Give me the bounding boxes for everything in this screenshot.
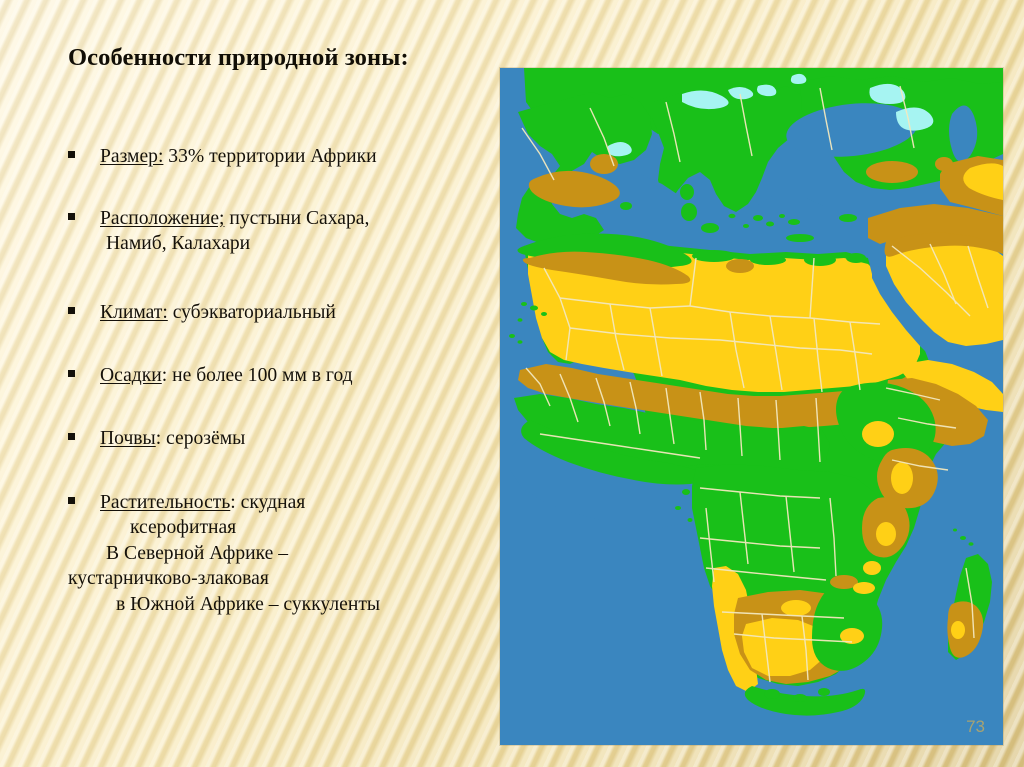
bullet-label: Растительность bbox=[100, 492, 230, 513]
page-title: Особенности природной зоны: bbox=[68, 44, 468, 72]
anatolia-desert-patch bbox=[866, 161, 918, 183]
list-item: Почвы: серозёмы bbox=[68, 426, 468, 451]
map-svg bbox=[500, 68, 1003, 745]
square-bullet-icon bbox=[68, 213, 75, 220]
list-item: Расположение; пустыни Сахара, Намиб, Кал… bbox=[68, 206, 468, 257]
bullet-label: Осадки bbox=[100, 365, 162, 386]
bullet-value: : не более 100 мм в год bbox=[162, 365, 353, 386]
bullet-continuation: ксерофитная bbox=[68, 515, 468, 540]
text-column: Особенности природной зоны: Размер: 33% … bbox=[0, 0, 480, 767]
list-item: Растительность: скудная ксерофитная В Се… bbox=[68, 490, 468, 617]
africa-natural-zones-map: 73 bbox=[500, 68, 1003, 745]
levant-small-patch bbox=[935, 157, 953, 171]
bullet-value: пустыни Сахара, bbox=[225, 208, 370, 229]
bullet-label: Почвы bbox=[100, 428, 156, 449]
cyrenaica-patch bbox=[726, 259, 754, 273]
bullet-continuation: Намиб, Калахари bbox=[68, 231, 468, 256]
coastal-patch-1 bbox=[863, 561, 881, 575]
bullet-label: Расположение; bbox=[100, 208, 225, 229]
list-item: Осадки: не более 100 мм в год bbox=[68, 363, 468, 388]
madagascar-desert-patch bbox=[951, 621, 965, 639]
bullet-text: Почвы: серозёмы bbox=[68, 426, 468, 451]
page-number: 73 bbox=[966, 717, 985, 737]
bullet-continuation: в Южной Африке – суккуленты bbox=[68, 592, 468, 617]
square-bullet-icon bbox=[68, 151, 75, 158]
square-bullet-icon bbox=[68, 307, 75, 314]
bullet-text: Климат: субэкваториальный bbox=[68, 300, 468, 325]
list-item: Размер: 33% территории Африки bbox=[68, 144, 468, 169]
bullet-continuation: кустарничково-злаковая bbox=[68, 566, 468, 591]
mozambique-patch bbox=[853, 582, 875, 594]
bullet-text: Размер: 33% территории Африки bbox=[68, 144, 468, 169]
bullet-label: Климат: bbox=[100, 302, 168, 323]
kalahari-patch-a bbox=[781, 600, 811, 616]
bullet-text: Расположение; пустыни Сахара, bbox=[68, 206, 468, 231]
ethiopia-highland-patch bbox=[862, 421, 894, 447]
tanzania-desert-patch bbox=[876, 522, 896, 546]
slide-canvas: Особенности природной зоны: Размер: 33% … bbox=[0, 0, 1024, 767]
bullet-value: субэкваториальный bbox=[168, 302, 336, 323]
bullet-value: 33% территории Африки bbox=[163, 146, 376, 167]
square-bullet-icon bbox=[68, 370, 75, 377]
square-bullet-icon bbox=[68, 497, 75, 504]
kenya-desert-patch bbox=[891, 462, 913, 494]
bullet-text: Осадки: не более 100 мм в год bbox=[68, 363, 468, 388]
bullet-value: : серозёмы bbox=[156, 428, 246, 449]
bullet-label: Размер: bbox=[100, 146, 163, 167]
list-item: Климат: субэкваториальный bbox=[68, 300, 468, 325]
bullet-value: : скудная bbox=[230, 492, 305, 513]
square-bullet-icon bbox=[68, 433, 75, 440]
bullet-text: Растительность: скудная bbox=[68, 490, 468, 515]
bullet-continuation: В Северной Африке – bbox=[68, 541, 468, 566]
